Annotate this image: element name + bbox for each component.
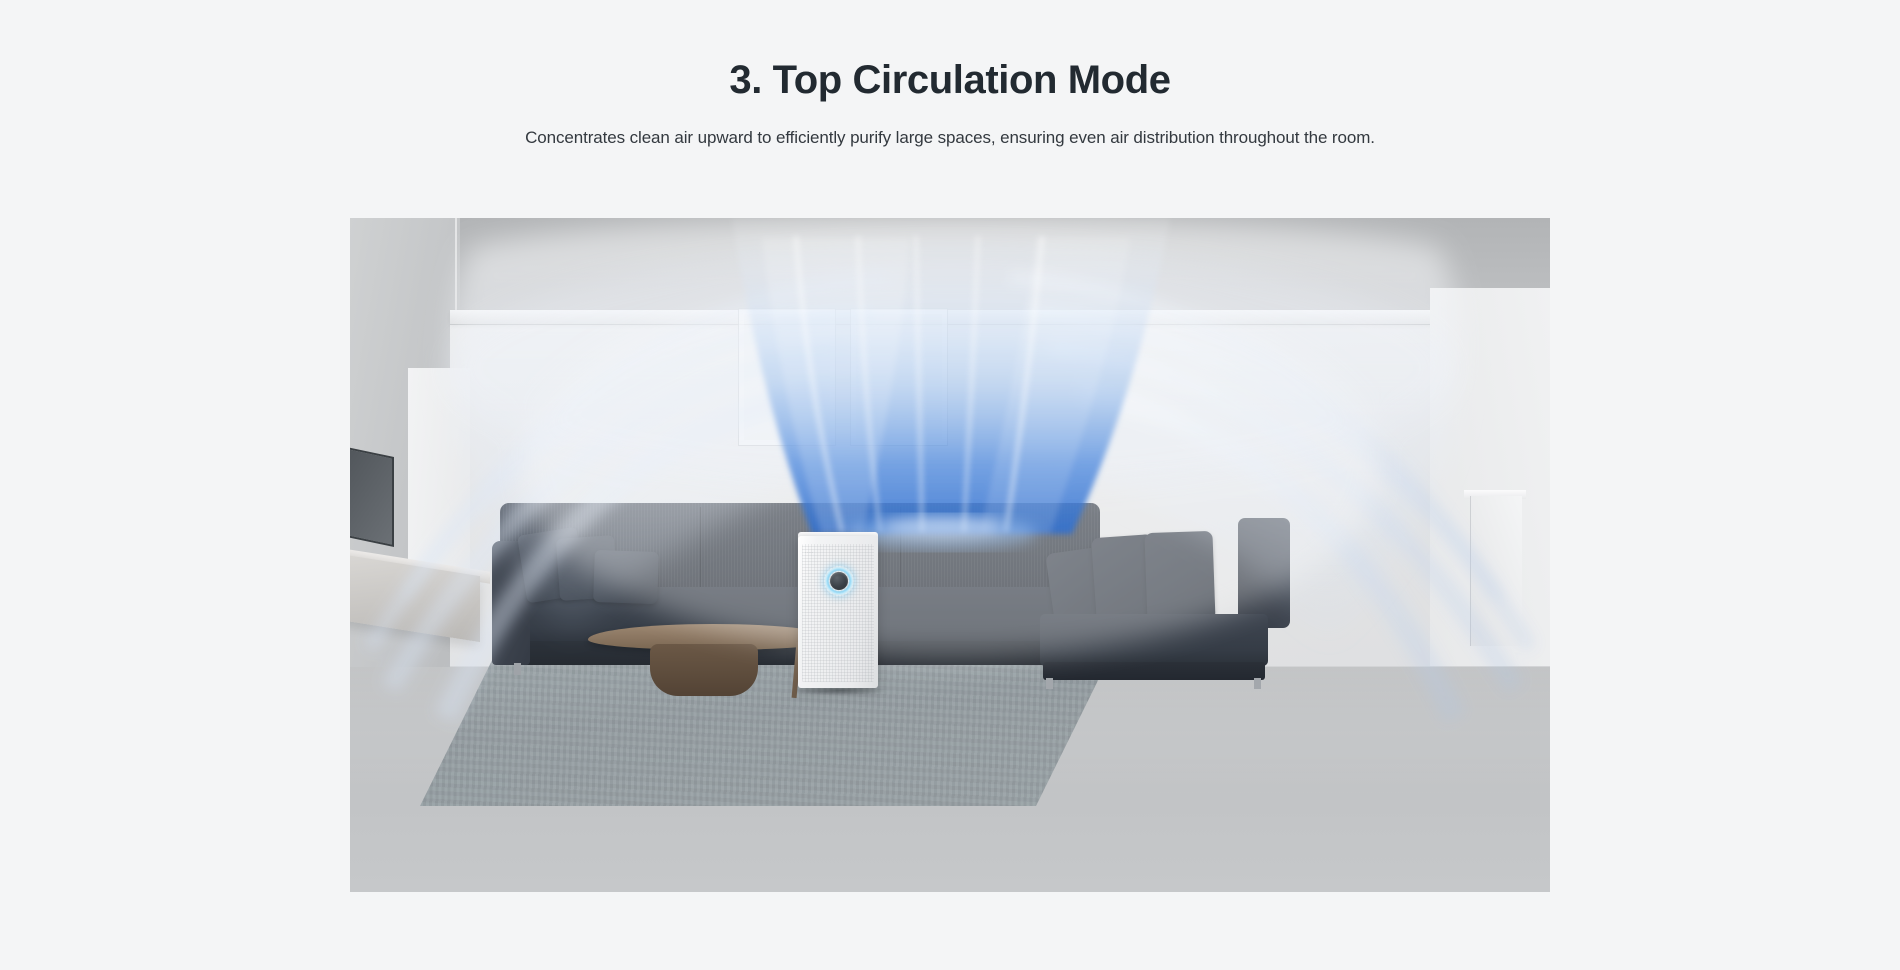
chaise-base	[1043, 662, 1265, 680]
ceiling-soffit	[450, 310, 1550, 324]
chaise-backrest	[1238, 518, 1290, 628]
picture-frame-left	[738, 308, 836, 446]
chaise-pillow-group	[1050, 524, 1230, 616]
purifier-mesh-grille	[802, 544, 874, 682]
wall-mounted-tv	[350, 446, 394, 547]
sofa-seam	[700, 507, 701, 591]
sofa-leg	[514, 663, 521, 675]
picture-frame-right	[850, 308, 948, 446]
page-subtitle: Concentrates clean air upward to efficie…	[0, 128, 1900, 148]
coffee-table-pedestal	[650, 644, 758, 696]
right-cabinet	[1470, 496, 1522, 646]
product-feature-section: 3. Top Circulation Mode Concentrates cle…	[0, 0, 1900, 970]
section-header: 3. Top Circulation Mode Concentrates cle…	[0, 0, 1900, 148]
feature-image: ·····	[350, 218, 1550, 892]
living-room-scene: ·····	[350, 218, 1550, 892]
chaise-leg	[1254, 678, 1261, 689]
sofa-seam	[900, 507, 901, 591]
chaise-leg	[1046, 678, 1053, 689]
page-footer-spacer	[0, 892, 1900, 970]
chaise-lounge	[1040, 518, 1290, 678]
purifier-brand-mark: ·····	[805, 550, 814, 555]
soffit-shadow-line	[450, 324, 1550, 325]
chaise-seat	[1040, 614, 1268, 666]
purifier-control-dial[interactable]	[830, 572, 848, 590]
throw-pillow	[593, 550, 659, 604]
page-title: 3. Top Circulation Mode	[0, 58, 1900, 102]
throw-pillow	[1144, 531, 1215, 623]
air-purifier[interactable]: ·····	[798, 536, 878, 688]
